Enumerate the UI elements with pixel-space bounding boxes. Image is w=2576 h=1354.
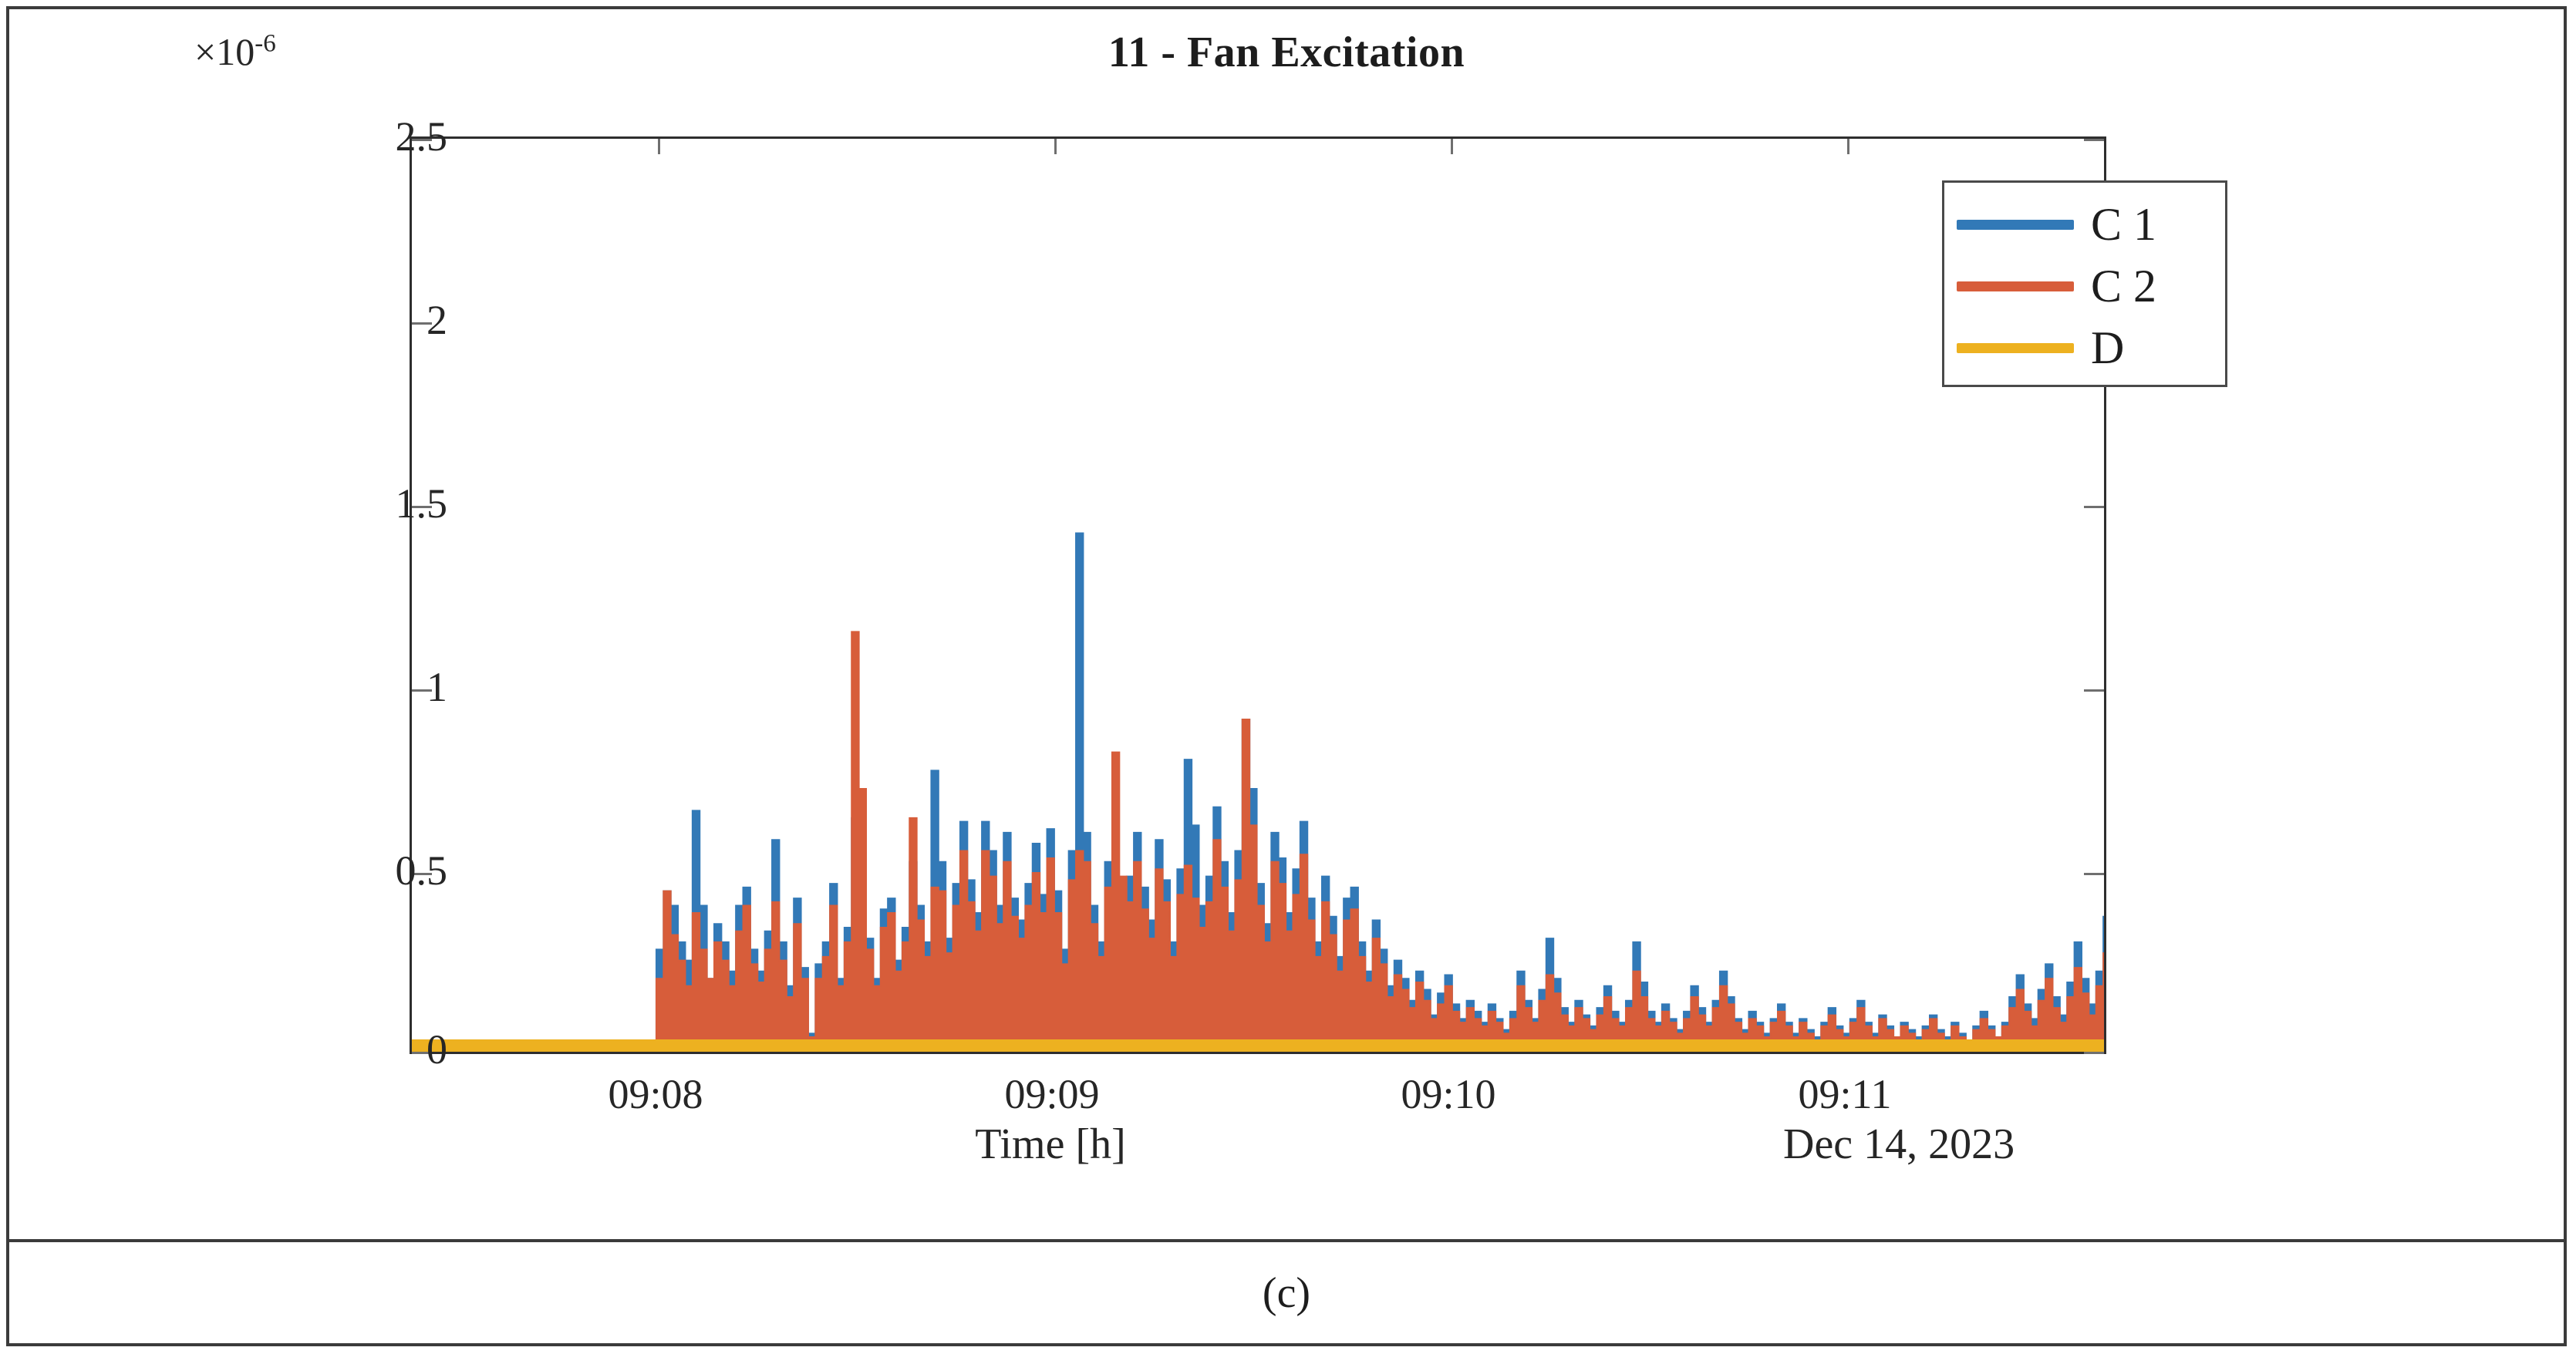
legend-item-d[interactable]: D	[1957, 317, 2213, 379]
legend-swatch-c2	[1957, 281, 2074, 291]
x-tick-label-0908: 09:08	[524, 1070, 787, 1118]
x-axis-date-label: Dec 14, 2023	[1783, 1120, 2323, 1169]
caption-strip: (c)	[9, 1239, 2564, 1343]
legend-label-c2: C 2	[2091, 263, 2156, 309]
plot-box	[410, 136, 2106, 1054]
x-tick-label-0909: 09:09	[921, 1070, 1183, 1118]
figure-caption: (c)	[1263, 1268, 1310, 1318]
legend-item-c2[interactable]: C 2	[1957, 255, 2213, 317]
y-tick-label-2: 2	[247, 299, 447, 341]
y-tick-label-2.5: 2.5	[247, 116, 447, 157]
legend-item-c1[interactable]: C 1	[1957, 194, 2213, 255]
legend-swatch-c1	[1957, 220, 2074, 230]
x-tick-label-0910: 09:10	[1317, 1070, 1580, 1118]
y-tick-label-0.5: 0.5	[247, 850, 447, 891]
y-tick-right-0	[2084, 1052, 2104, 1054]
chart-area: ×10-6 11 - Fan Excitation Power [W]	[9, 9, 2564, 1239]
figure-frame: ×10-6 11 - Fan Excitation Power [W]	[6, 6, 2567, 1346]
y-tick-label-1.5: 1.5	[247, 483, 447, 524]
legend-label-d: D	[2091, 325, 2124, 371]
legend-swatch-d	[1957, 343, 2074, 353]
chart-title: 11 - Fan Excitation	[9, 28, 2564, 77]
x-axis-label: Time [h]	[781, 1120, 1320, 1169]
y-tick-label-0: 0	[247, 1029, 447, 1070]
series-path-c2	[649, 632, 2104, 1052]
legend-label-c1: C 1	[2091, 201, 2156, 248]
y-tick-label-1: 1	[247, 666, 447, 708]
plot-inner	[412, 139, 2104, 1052]
x-tick-label-0911: 09:11	[1714, 1070, 1976, 1118]
legend[interactable]: C 1 C 2 D	[1942, 180, 2227, 387]
series-svg	[412, 139, 2104, 1052]
